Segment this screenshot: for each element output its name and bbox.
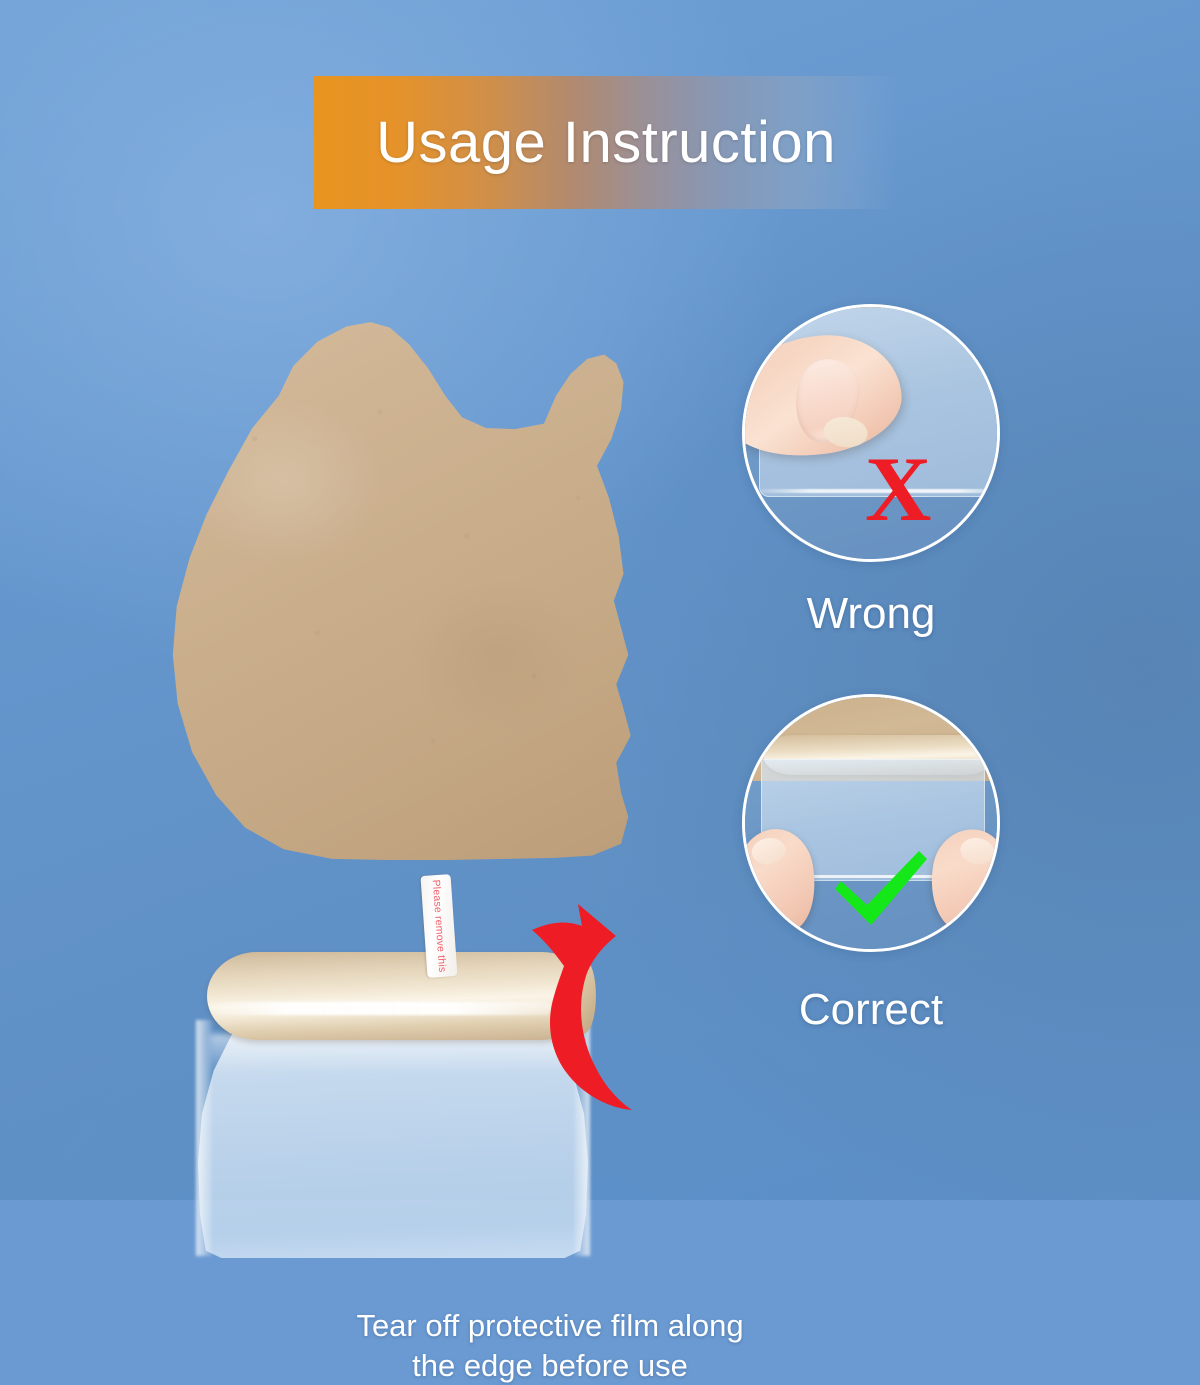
page-title: Usage Instruction	[376, 114, 836, 172]
caption-line-1: Tear off protective film along	[230, 1306, 870, 1346]
product-photo-main: Please remove this Tear off protective f…	[150, 318, 670, 968]
circle-frame-correct	[742, 694, 1000, 952]
label-wrong: Wrong	[742, 592, 1000, 636]
peel-direction-arrow-icon	[520, 896, 650, 1121]
circle-frame-wrong: X	[742, 304, 1000, 562]
x-mark-icon: X	[865, 443, 931, 535]
pull-tab-text: Please remove this	[430, 879, 448, 973]
hook-sheen	[210, 1034, 570, 1074]
film-roll-highlight	[213, 1002, 552, 1015]
inset-correct	[742, 694, 1000, 952]
wrong-kraft-strip	[819, 304, 939, 307]
kraft-texture	[168, 320, 650, 860]
check-mark-icon	[831, 849, 931, 927]
kraft-backing-board	[168, 320, 650, 860]
pull-tab-label: Please remove this	[420, 874, 457, 978]
wrong-scene: X	[745, 307, 997, 559]
fingernail-left-icon	[750, 835, 788, 867]
label-correct: Correct	[742, 988, 1000, 1032]
title-banner: Usage Instruction	[314, 76, 898, 209]
main-caption: Tear off protective film along the edge …	[230, 1306, 870, 1385]
inset-wrong: X	[742, 304, 1000, 562]
caption-line-2: the edge before use	[230, 1346, 870, 1385]
correct-scene	[745, 697, 997, 949]
fingernail-right-icon	[958, 835, 996, 867]
